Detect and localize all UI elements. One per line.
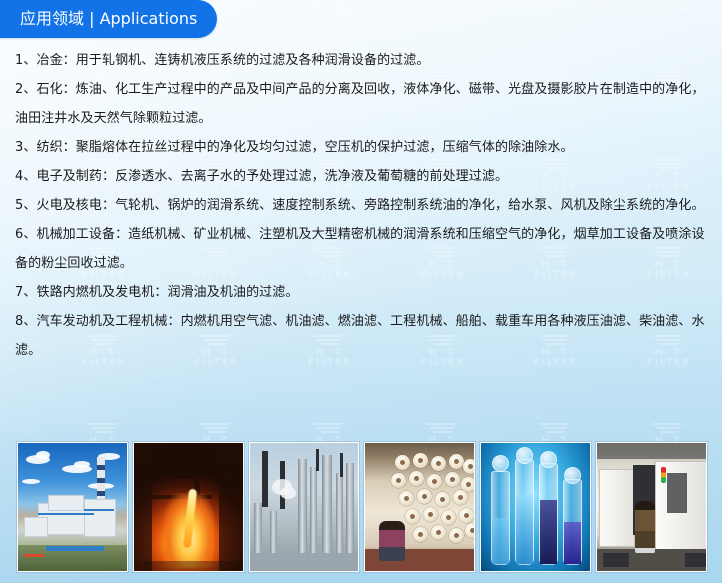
gallery-image-lab-glassware — [480, 442, 591, 572]
ht-filter-logo-icon — [200, 422, 234, 435]
applications-list: 1、冶金：用于轧钢机、连铸机液压系统的过滤及各种润滑设备的过滤。 2、石化：炼油… — [0, 46, 722, 365]
refinery-photo — [250, 443, 359, 571]
watermark: H TFILTER — [623, 0, 715, 26]
watermark-line-1: H T — [429, 0, 458, 6]
watermark-line-1: H T — [316, 0, 345, 6]
gallery-image-cnc-machine — [596, 442, 707, 572]
watermark-line-2: FILTER — [421, 6, 465, 16]
watermark: H TFILTER — [397, 0, 489, 26]
application-photo-gallery — [17, 442, 707, 572]
watermark-line-1: H T — [655, 0, 684, 6]
watermark-line-1: H T — [542, 0, 571, 6]
application-item: 4、电子及制药：反渗透水、去离子水的予处理过滤，洗净液及葡萄糖的前处理过滤。 — [0, 162, 722, 191]
application-item: 1、冶金：用于轧钢机、连铸机液压系统的过滤及各种润滑设备的过滤。 — [0, 46, 722, 75]
power-plant-photo — [18, 443, 127, 571]
application-item: 3、纺织：聚脂熔体在拉丝过程中的净化及均匀过滤，空压机的保护过滤，压缩气体的除油… — [0, 133, 722, 162]
lab-glassware-photo — [481, 443, 590, 571]
application-item: 6、机械加工设备：造纸机械、矿业机械、注塑机及大型精密机械的润滑系统和压缩空气的… — [0, 220, 722, 278]
steel-furnace-photo — [134, 443, 243, 571]
gallery-image-steel-furnace — [133, 442, 244, 572]
watermark: H TFILTER — [510, 0, 602, 26]
application-item: 8、汽车发动机及工程机械：内燃机用空气滤、机油滤、燃油滤、工程机械、船舶、载重车… — [0, 307, 722, 365]
page-title: 应用领域 | Applications — [20, 11, 197, 27]
gallery-image-textile-spools — [364, 442, 475, 572]
gallery-image-power-plant — [17, 442, 128, 572]
gallery-image-refinery — [249, 442, 360, 572]
applications-page: H TFILTERH TFILTERH TFILTERH TFILTERH TF… — [0, 0, 722, 583]
cnc-machine-photo — [597, 443, 706, 571]
ht-filter-logo-icon — [539, 422, 573, 435]
watermark-line-2: FILTER — [534, 6, 578, 16]
watermark-line-2: FILTER — [647, 6, 691, 16]
ht-filter-logo-icon — [313, 422, 347, 435]
ht-filter-logo-icon — [652, 422, 686, 435]
ht-filter-logo-icon — [426, 422, 460, 435]
application-item: 2、石化：炼油、化工生产过程中的产品及中间产品的分离及回收，液体净化、磁带、光盘… — [0, 75, 722, 133]
application-item: 5、火电及核电：气轮机、锅炉的润滑系统、速度控制系统、旁路控制系统油的净化，给水… — [0, 191, 722, 220]
ht-filter-logo-icon — [87, 422, 121, 435]
section-header-pill: 应用领域 | Applications — [0, 0, 217, 38]
watermark-line-2: FILTER — [308, 6, 352, 16]
application-item: 7、铁路内燃机及发电机：润滑油及机油的过滤。 — [0, 278, 722, 307]
watermark: H TFILTER — [284, 0, 376, 26]
textile-spools-photo — [365, 443, 474, 571]
